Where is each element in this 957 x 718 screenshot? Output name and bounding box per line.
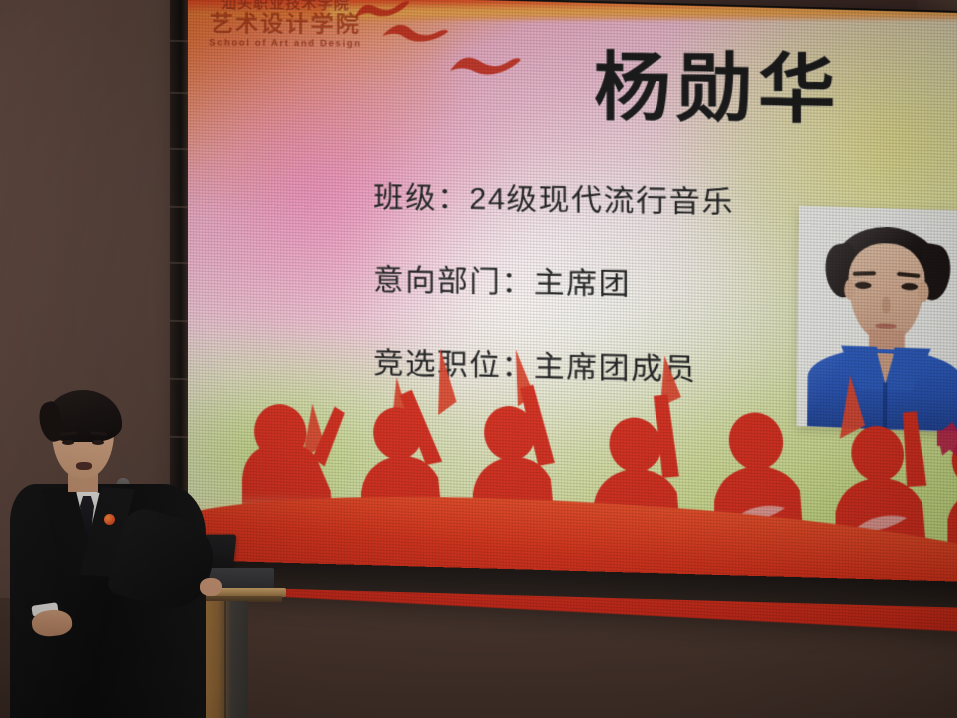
school-logo-line-3: School of Art and Design	[200, 38, 371, 49]
bird-silhouette-icon	[448, 52, 523, 83]
portrait-brow-left	[853, 271, 876, 276]
portrait-nose	[882, 297, 891, 314]
portrait-mouth	[875, 323, 896, 329]
speaker-eye-left	[62, 440, 74, 445]
speaker	[4, 388, 214, 718]
portrait-eye-right	[901, 283, 918, 291]
speaker-hand-right	[200, 578, 222, 596]
speaker-mouth	[76, 462, 92, 470]
school-logo-line-2: 艺术设计学院	[200, 12, 371, 36]
school-logo: 汕头职业技术学院 艺术设计学院 School of Art and Design	[200, 0, 371, 49]
portrait-eye-left	[855, 281, 872, 289]
red-ornament-icon	[937, 420, 957, 456]
info-line-class: 班级：24级现代流行音乐	[373, 172, 734, 222]
speaker-eye-right	[92, 440, 104, 445]
speaker-lapel-pin	[104, 514, 115, 525]
led-presentation-screen[interactable]: 汕头职业技术学院 艺术设计学院 School of Art and Design…	[184, 0, 957, 634]
candidate-name: 杨勋华	[594, 50, 841, 128]
info-line-department: 意向部门：主席团	[373, 255, 631, 304]
auditorium-room: 汕头职业技术学院 艺术设计学院 School of Art and Design…	[0, 0, 957, 718]
